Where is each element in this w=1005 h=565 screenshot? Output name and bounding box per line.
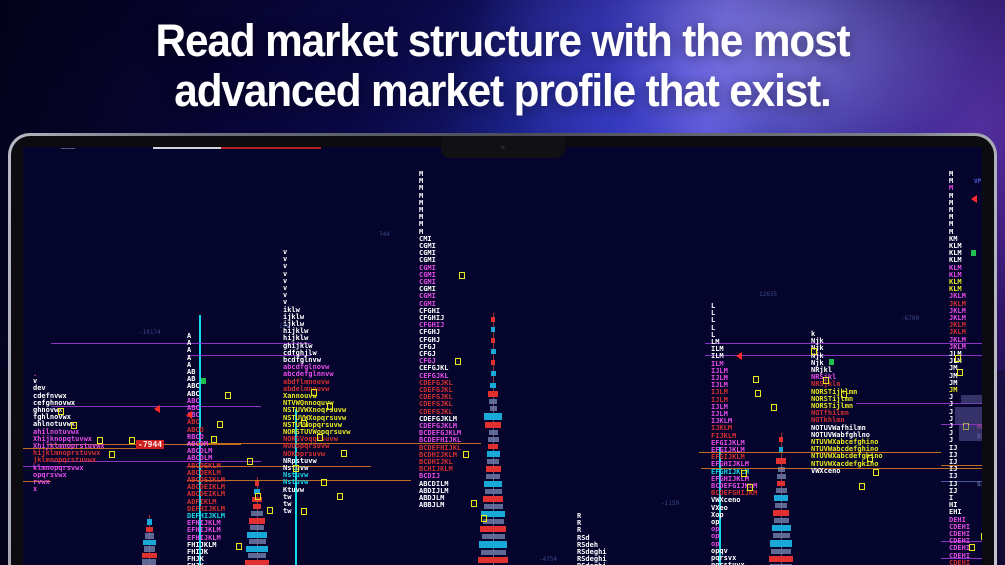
tpo-highlight-box [463, 451, 469, 458]
candle-body [487, 459, 499, 464]
candle-body [776, 488, 787, 493]
candle-body [488, 391, 498, 397]
candle-body [143, 540, 156, 545]
tpo-highlight-box [327, 403, 333, 410]
candle-body [480, 526, 506, 532]
candle-body [491, 338, 495, 343]
axis-value-label: 744 [379, 231, 390, 238]
candle-body [249, 539, 266, 544]
tpo-highlight-box [293, 465, 299, 472]
headline-line-2: advanced market profile that exist. [30, 66, 975, 116]
price-marker-icon [154, 405, 160, 413]
tpo-green-box [829, 359, 834, 365]
tpo-highlight-box [873, 469, 879, 476]
tpo-highlight-box [337, 493, 343, 500]
candle-body [245, 560, 269, 565]
market-profile-chart[interactable]: .vdevcdefnvwxcefghnovwxghnovwxfghlnovwxa… [23, 147, 982, 565]
selection-rect [955, 407, 982, 424]
candle-body [145, 533, 154, 539]
tpo-highlight-box [225, 392, 231, 399]
laptop-mockup: .vdevcdefnvwxcefghnovwxghnovwxfghlnovwxa… [8, 133, 997, 565]
selection-rect [959, 425, 982, 441]
candle-body [486, 474, 500, 479]
tpo-highlight-box [317, 434, 323, 441]
candle-body [247, 532, 267, 538]
tpo-highlight-box [301, 508, 307, 515]
axis-value-label: -6700 [901, 315, 919, 322]
tpo-highlight-box [957, 369, 963, 376]
tpo-highlight-box [823, 377, 829, 384]
candle-body [486, 466, 501, 472]
candle-body [776, 458, 786, 464]
current-price-tag: -7944 [136, 440, 164, 449]
camera-notch [441, 136, 565, 158]
tpo-highlight-box [459, 272, 465, 279]
tpo-row: CDEHI [949, 560, 970, 565]
tpo-highlight-box [455, 358, 461, 365]
candle-body [485, 422, 501, 428]
tpo-highlight-box [97, 437, 103, 444]
tpo-row: tw [283, 508, 291, 515]
axis-value-label: 12635 [759, 291, 777, 298]
candle-body [491, 327, 495, 332]
candle-body [771, 549, 791, 554]
tpo-green-box [971, 250, 976, 256]
candle-body [147, 519, 152, 525]
tpo-highlight-box [341, 450, 347, 457]
tpo-highlight-box [859, 483, 865, 490]
tpo-highlight-box [755, 390, 761, 397]
candle-body [488, 437, 499, 442]
candle-body [491, 317, 495, 322]
candle-body [490, 406, 497, 411]
tpo-highlight-box [771, 404, 777, 411]
tpo-highlight-box [129, 437, 135, 444]
tpo-highlight-box [969, 544, 975, 551]
candle-body [144, 546, 155, 552]
axis-value-label: -1159 [661, 500, 679, 507]
candle-body [482, 534, 505, 539]
tpo-green-box [201, 378, 206, 384]
tpo-highlight-box [741, 470, 747, 477]
headline-line-1: Read market structure with the most [30, 16, 975, 66]
tpo-highlight-box [481, 515, 487, 522]
candle-body [491, 349, 496, 354]
candle-body [774, 518, 789, 523]
axis-value-label: -10174 [139, 329, 161, 336]
page-headline: Read market structure with the most adva… [0, 16, 1005, 116]
candle-body [772, 525, 791, 531]
tpo-highlight-box [321, 479, 327, 486]
candle-body [773, 510, 789, 516]
candle-body [481, 550, 506, 555]
candle-body [491, 371, 496, 376]
webcam-icon [500, 145, 505, 150]
candle-body [142, 559, 156, 565]
tpo-row: ABBJLM [419, 502, 444, 509]
tpo-highlight-box [71, 422, 77, 429]
candle-body [779, 437, 783, 442]
tpo-highlight-box [471, 500, 477, 507]
candle-body [248, 553, 266, 558]
tpo-highlight-box [753, 376, 759, 383]
tpo-row: x [33, 486, 37, 493]
tpo-highlight-box [811, 348, 817, 355]
candle-body [255, 481, 259, 486]
laptop-screen: .vdevcdefnvwxcefghnovwxghnovwxfghlnovwxa… [23, 147, 982, 565]
tpo-highlight-box [301, 420, 307, 427]
reference-line [705, 343, 982, 344]
axis-value-label: 178 [279, 323, 290, 330]
candle-body [250, 525, 264, 530]
candle-body [777, 474, 786, 479]
candle-body [146, 527, 153, 532]
candle-body [777, 481, 785, 486]
laptop-bezel: .vdevcdefnvwxcefghnovwxghnovwxfghlnovwxa… [11, 136, 994, 565]
reference-line [705, 355, 982, 356]
tpo-highlight-box [981, 533, 982, 540]
tpo-highlight-box [217, 421, 223, 428]
right-edge-label: VP [974, 178, 981, 185]
candle-body [484, 481, 502, 487]
candle-body [485, 489, 502, 494]
candle-body [487, 451, 500, 457]
tpo-highlight-box [867, 455, 873, 462]
candle-body [490, 383, 496, 388]
selection-rect [961, 395, 982, 404]
candle-body [773, 533, 790, 538]
reference-line [941, 481, 982, 482]
price-marker-icon [186, 411, 192, 419]
candle-body [253, 504, 261, 509]
tpo-highlight-box [311, 389, 317, 396]
price-marker-icon [736, 352, 742, 360]
tpo-highlight-box [247, 458, 253, 465]
candle-body [246, 546, 268, 552]
tpo-highlight-box [109, 451, 115, 458]
candle-body [774, 495, 788, 501]
tpo-highlight-box [236, 543, 242, 550]
candle-body [142, 553, 157, 558]
price-marker-icon [971, 195, 977, 203]
tpo-highlight-box [747, 484, 753, 491]
candle-body [484, 413, 502, 420]
candle-body [489, 399, 497, 404]
candle-body [479, 541, 507, 548]
tpo-highlight-box [211, 436, 217, 443]
candle-body [769, 556, 793, 562]
candle-body [249, 518, 265, 524]
tpo-highlight-box [955, 355, 961, 362]
candle-body [483, 496, 503, 502]
tpo-highlight-box [841, 391, 847, 398]
axis-value-label: -4754 [539, 556, 557, 563]
reference-line [941, 465, 982, 466]
tpo-highlight-box [267, 507, 273, 514]
candle-body [251, 511, 263, 516]
tpo-row: VWXceno [811, 468, 841, 475]
candle-body [775, 503, 787, 508]
candle-body [489, 430, 498, 435]
reference-line [51, 343, 311, 344]
candle-body [488, 444, 498, 449]
right-edge-label: S1 [977, 481, 982, 488]
candle-body [770, 540, 792, 547]
candle-body [491, 360, 495, 365]
tpo-highlight-box [255, 493, 261, 500]
tpo-highlight-box [58, 408, 64, 415]
candle-body [484, 504, 503, 509]
candle-body [478, 557, 508, 563]
